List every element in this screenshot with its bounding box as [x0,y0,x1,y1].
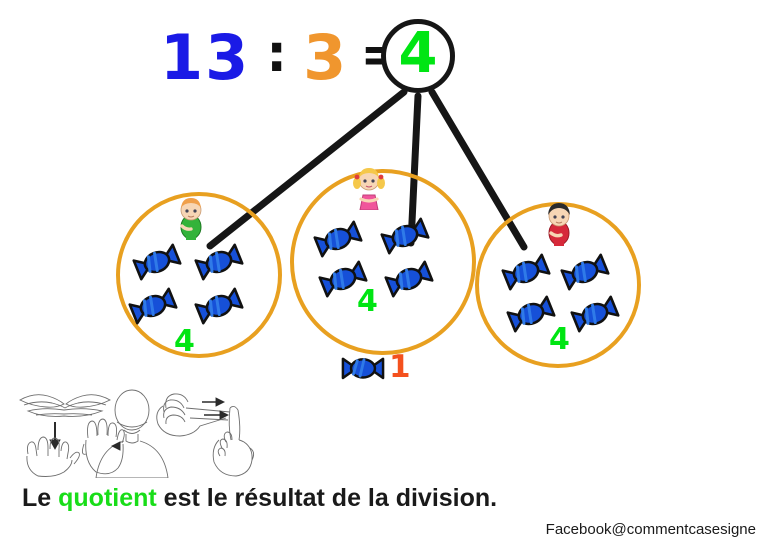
division-operator: : [250,24,303,92]
credit-label: Facebook@commentcasesigne [546,521,756,538]
group-1-count-label: 4 [174,327,195,357]
caption-highlight-quotient: quotient [58,484,157,512]
caption-after: est le résultat de la division. [157,484,497,512]
caption-text: Le quotient est le résultat de la divisi… [22,484,497,513]
dividend-value: 13 [160,27,250,89]
division-equation: 13 : 3 = [160,16,404,100]
quotient-value: 4 [399,26,438,82]
divisor-value: 3 [303,27,360,89]
remainder-candy-item [341,355,385,382]
remainder-group: 1 [341,352,411,385]
kid-figure-girl-pink-dress [352,166,386,210]
division-diagram-canvas: 13 : 3 = 4 [0,0,768,543]
group-3-count-label: 4 [549,325,570,355]
group-2-count-label: 4 [357,287,378,317]
kid-figure-boy-green-shirt [174,196,208,240]
kid-figure-boy-red-shirt [542,202,576,246]
remainder-count-label: 1 [389,352,411,383]
sign-language-illustration [14,378,266,478]
caption-before: Le [22,484,58,512]
quotient-circle: 4 [381,19,455,93]
